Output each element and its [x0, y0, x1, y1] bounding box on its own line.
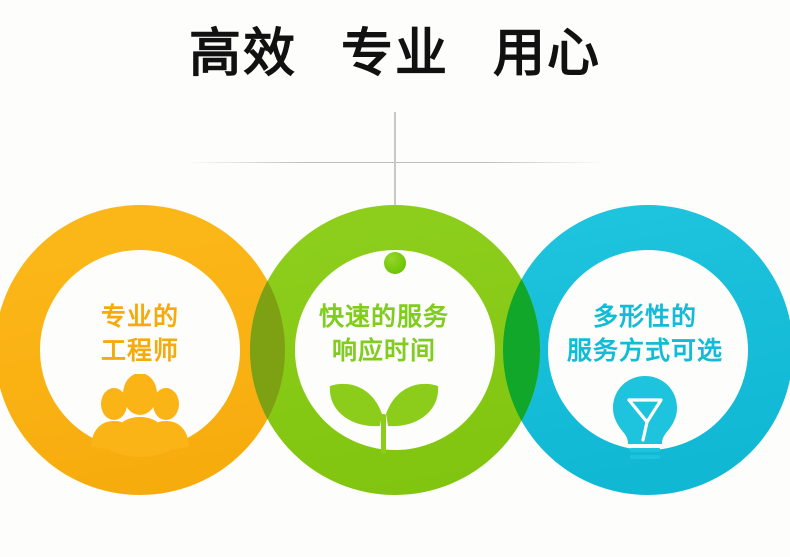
venn-rings — [0, 0, 790, 557]
green-cyan-overlap — [0, 0, 790, 557]
infographic-canvas: 高效专业用心 — [0, 0, 790, 557]
